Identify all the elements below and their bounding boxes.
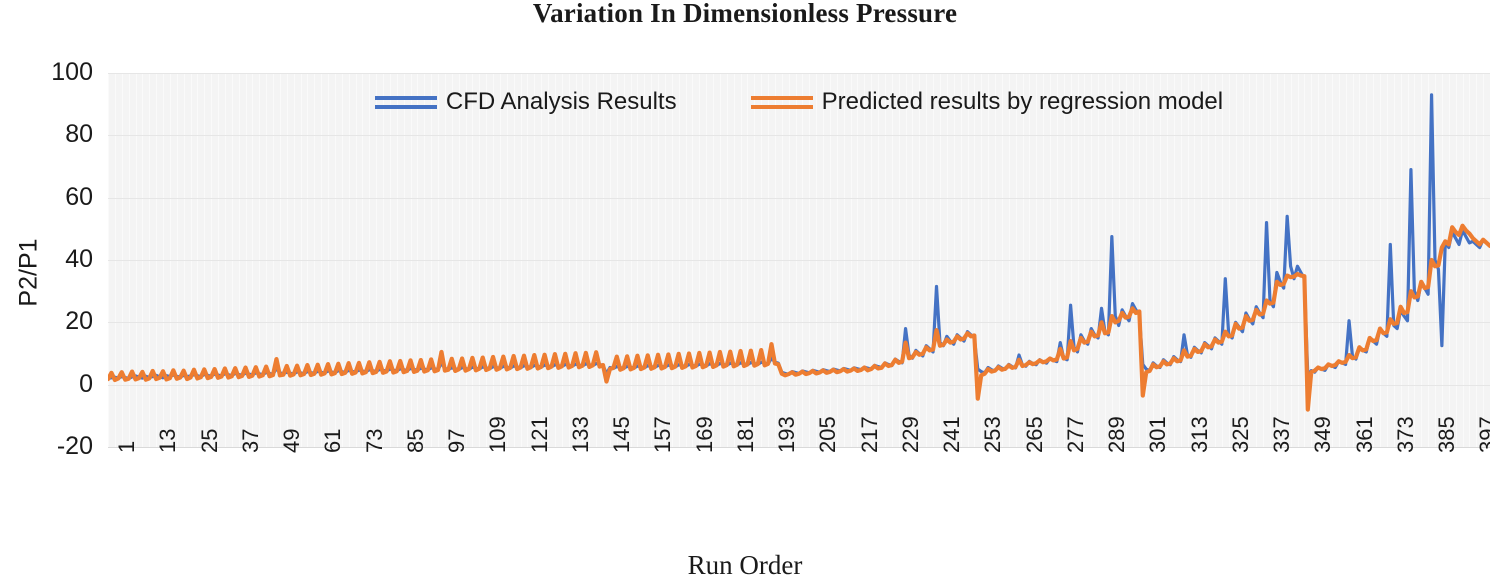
x-tick-label: 385 (1436, 416, 1458, 453)
x-tick-label: 217 (859, 416, 881, 453)
x-tick-label: 133 (570, 416, 592, 453)
x-tick-label: 397 (1477, 416, 1490, 453)
y-tick-label: 80 (23, 122, 93, 147)
x-tick-label: 61 (322, 429, 344, 453)
x-tick-label: 337 (1271, 416, 1293, 453)
x-tick-label: 97 (446, 429, 468, 453)
x-tick-label: 109 (487, 416, 509, 453)
x-tick-label: 145 (611, 416, 633, 453)
x-tick-label: 13 (157, 429, 179, 453)
x-tick-label: 181 (735, 416, 757, 453)
x-tick-label: 193 (776, 416, 798, 453)
y-tick-label: 40 (23, 247, 93, 272)
x-tick-label: 121 (529, 416, 551, 453)
y-tick-label: 20 (23, 309, 93, 334)
x-tick-label: 253 (982, 416, 1004, 453)
y-tick-label: -20 (23, 434, 93, 459)
chart-title: Variation In Dimensionless Pressure (0, 0, 1490, 29)
x-tick-label: 49 (281, 429, 303, 453)
x-tick-label: 25 (199, 429, 221, 453)
series-lines (108, 73, 1490, 447)
series-line-0 (108, 95, 1490, 379)
x-tick-label: 85 (405, 429, 427, 453)
x-tick-label: 373 (1395, 416, 1417, 453)
x-tick-label: 277 (1065, 416, 1087, 453)
plot-area (108, 73, 1490, 447)
x-tick-label: 1 (116, 441, 138, 453)
series-line-1 (108, 226, 1490, 410)
x-axis-title: Run Order (0, 550, 1490, 581)
x-tick-label: 37 (240, 429, 262, 453)
y-tick-label: 60 (23, 185, 93, 210)
x-tick-label: 361 (1354, 416, 1376, 453)
y-tick-label: 0 (23, 372, 93, 397)
x-tick-label: 241 (941, 416, 963, 453)
x-tick-label: 313 (1189, 416, 1211, 453)
x-tick-label: 325 (1230, 416, 1252, 453)
x-tick-label: 157 (652, 416, 674, 453)
x-tick-label: 73 (364, 429, 386, 453)
x-tick-label: 265 (1024, 416, 1046, 453)
y-tick-label: 100 (23, 60, 93, 85)
x-tick-label: 169 (694, 416, 716, 453)
chart-figure: Variation In Dimensionless Pressure P2/P… (0, 0, 1490, 583)
x-tick-label: 229 (900, 416, 922, 453)
x-tick-label: 205 (817, 416, 839, 453)
x-tick-label: 301 (1147, 416, 1169, 453)
x-tick-label: 349 (1312, 416, 1334, 453)
x-tick-label: 289 (1106, 416, 1128, 453)
